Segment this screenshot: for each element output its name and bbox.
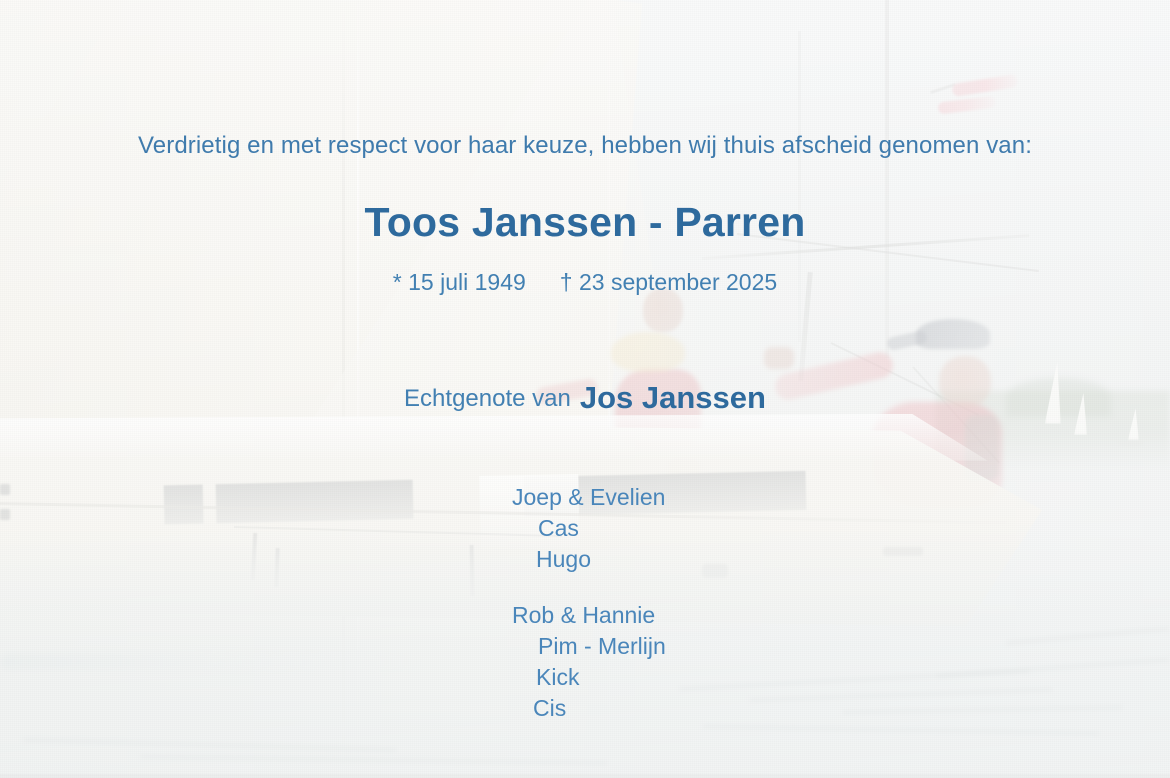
family-group-1: Joep & Evelien Cas Hugo <box>512 482 666 575</box>
deceased-name: Toos Janssen - Parren <box>0 199 1170 246</box>
family-group-2: Rob & Hannie Pim - Merlijn Kick Cis <box>512 600 666 724</box>
memorial-card: Verdrietig en met respect voor haar keuz… <box>0 0 1170 778</box>
spouse-name: Jos Janssen <box>580 380 766 415</box>
death-date: † 23 september 2025 <box>560 269 777 295</box>
family-name: Cas <box>512 513 666 544</box>
birth-date: * 15 juli 1949 <box>393 269 526 295</box>
spouse-prefix: Echtgenote van <box>404 385 571 412</box>
family-name: Rob & Hannie <box>512 600 666 631</box>
intro-line: Verdrietig en met respect voor haar keuz… <box>0 132 1170 160</box>
family-name: Cis <box>512 693 666 724</box>
spouse-line: Echtgenote vanJos Janssen <box>0 380 1170 416</box>
family-name: Joep & Evelien <box>512 482 666 513</box>
life-dates: * 15 juli 1949† 23 september 2025 <box>0 269 1170 296</box>
family-name: Hugo <box>512 544 666 575</box>
family-name: Kick <box>512 662 666 693</box>
family-name: Pim - Merlijn <box>512 631 666 662</box>
family-names: Joep & Evelien Cas Hugo Rob & Hannie Pim… <box>512 482 666 724</box>
memorial-text: Verdrietig en met respect voor haar keuz… <box>0 0 1170 778</box>
